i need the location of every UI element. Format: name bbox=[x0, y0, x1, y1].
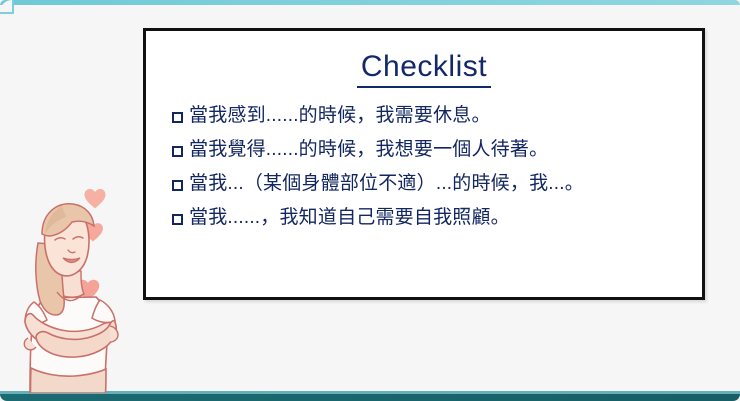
list-item[interactable]: 當我......，我知道自己需要自我照顧。 bbox=[172, 206, 702, 230]
woman-hugging-herself-illustration bbox=[0, 178, 152, 393]
list-item[interactable]: 當我...（某個身體部位不適）...的時候，我...。 bbox=[172, 172, 702, 196]
list-item[interactable]: 當我覺得......的時候，我想要一個人待著。 bbox=[172, 138, 702, 162]
checklist-items: 當我感到......的時候，我需要休息。 當我覺得......的時候，我想要一個… bbox=[146, 104, 702, 231]
page-title-text: Checklist bbox=[357, 51, 491, 88]
checkbox-square-icon[interactable] bbox=[172, 214, 183, 225]
slide-top-border bbox=[0, 0, 740, 5]
list-item-label: 當我......，我知道自己需要自我照顧。 bbox=[189, 206, 510, 230]
list-item-label: 當我...（某個身體部位不適）...的時候，我...。 bbox=[189, 172, 584, 196]
checkbox-square-icon[interactable] bbox=[172, 180, 183, 191]
slide-canvas: Checklist 當我感到......的時候，我需要休息。 當我覺得.....… bbox=[0, 0, 740, 401]
list-item[interactable]: 當我感到......的時候，我需要休息。 bbox=[172, 104, 702, 128]
page-title: Checklist bbox=[146, 51, 702, 88]
checklist-card: Checklist 當我感到......的時候，我需要休息。 當我覺得.....… bbox=[143, 28, 705, 300]
floating-hearts-icon bbox=[57, 189, 106, 301]
checkbox-square-icon[interactable] bbox=[172, 146, 183, 157]
slide-bottom-border bbox=[0, 394, 740, 401]
list-item-label: 當我覺得......的時候，我想要一個人待著。 bbox=[189, 138, 548, 162]
list-item-label: 當我感到......的時候，我需要休息。 bbox=[189, 104, 491, 128]
checkbox-square-icon[interactable] bbox=[172, 112, 183, 123]
